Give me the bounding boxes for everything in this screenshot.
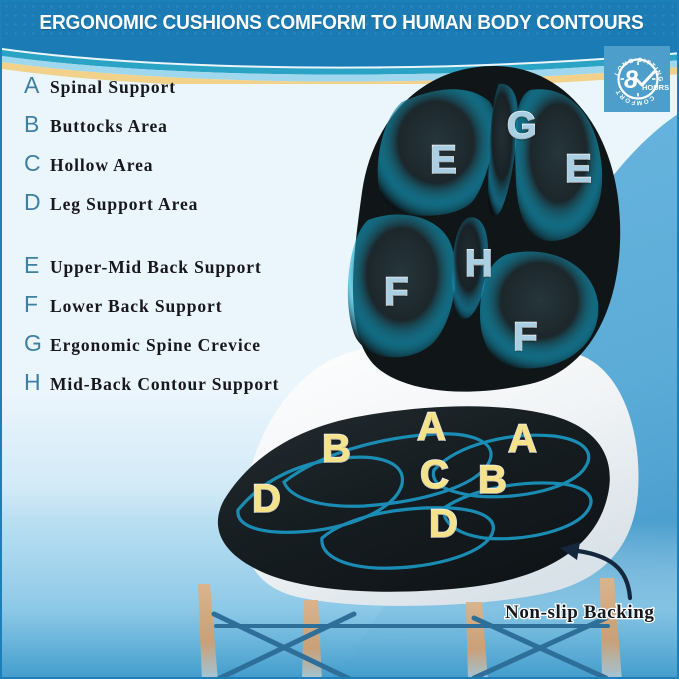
legend-label-e: Upper-Mid Back Support (50, 259, 262, 277)
legend-letter-d: D (24, 191, 50, 214)
legend-item-h: H Mid-Back Contour Support (24, 371, 324, 410)
marker-d-leg-left: D (252, 479, 281, 519)
legend-letter-e: E (24, 254, 50, 277)
marker-e-upper-left: E (430, 140, 457, 180)
legend-letter-g: G (24, 332, 50, 355)
callout-arrow-icon (550, 540, 636, 602)
marker-e-upper-right: E (565, 149, 592, 189)
marker-a-spinal-right: A (508, 419, 537, 459)
legend-item-b: B Buttocks Area (24, 113, 324, 152)
marker-b-buttocks-right: B (478, 460, 507, 500)
legend-divider-space (24, 230, 324, 254)
legend-group-seat: A Spinal Support B Buttocks Area C Hollo… (24, 74, 324, 230)
legend-letter-h: H (24, 371, 50, 394)
infographic-canvas: ERGONOMIC CUSHIONS COMFORM TO HUMAN BODY… (0, 0, 679, 679)
legend-group-back: E Upper-Mid Back Support F Lower Back Su… (24, 254, 324, 410)
legend-item-f: F Lower Back Support (24, 293, 324, 332)
legend-label-d: Leg Support Area (50, 196, 198, 214)
legend-item-a: A Spinal Support (24, 74, 324, 113)
legend-letter-f: F (24, 293, 50, 316)
marker-c-hollow: C (420, 455, 449, 495)
marker-b-buttocks-left: B (322, 429, 351, 469)
legend-letter-c: C (24, 152, 50, 175)
legend-label-f: Lower Back Support (50, 298, 222, 316)
legend-letter-a: A (24, 74, 50, 97)
marker-d-leg-right: D (429, 504, 458, 544)
badge-number: 8 (624, 66, 638, 94)
page-title: ERGONOMIC CUSHIONS COMFORM TO HUMAN BODY… (26, 11, 657, 35)
marker-g-spine-crevice: G (507, 107, 537, 145)
non-slip-backing-label: Non-slip Backing (505, 602, 655, 624)
legend-item-d: D Leg Support Area (24, 191, 324, 230)
legend-item-g: G Ergonomic Spine Crevice (24, 332, 324, 371)
legend-letter-b: B (24, 113, 50, 136)
marker-f-lower-right: F (513, 317, 537, 357)
legend-label-h: Mid-Back Contour Support (50, 376, 279, 394)
legend-label-c: Hollow Area (50, 157, 153, 175)
legend-label-b: Buttocks Area (50, 118, 168, 136)
marker-a-spinal-left: A (417, 407, 446, 447)
legend-item-e: E Upper-Mid Back Support (24, 254, 324, 293)
eight-hours-badge: 8 HOURS LONG SITTING COMFORT (604, 46, 670, 112)
legend: A Spinal Support B Buttocks Area C Hollo… (24, 74, 324, 410)
marker-f-lower-left: F (384, 272, 408, 312)
marker-h-mid-back: H (465, 245, 492, 283)
badge-unit: HOURS (642, 83, 669, 92)
legend-label-g: Ergonomic Spine Crevice (50, 337, 261, 355)
legend-item-c: C Hollow Area (24, 152, 324, 191)
legend-label-a: Spinal Support (50, 79, 176, 97)
